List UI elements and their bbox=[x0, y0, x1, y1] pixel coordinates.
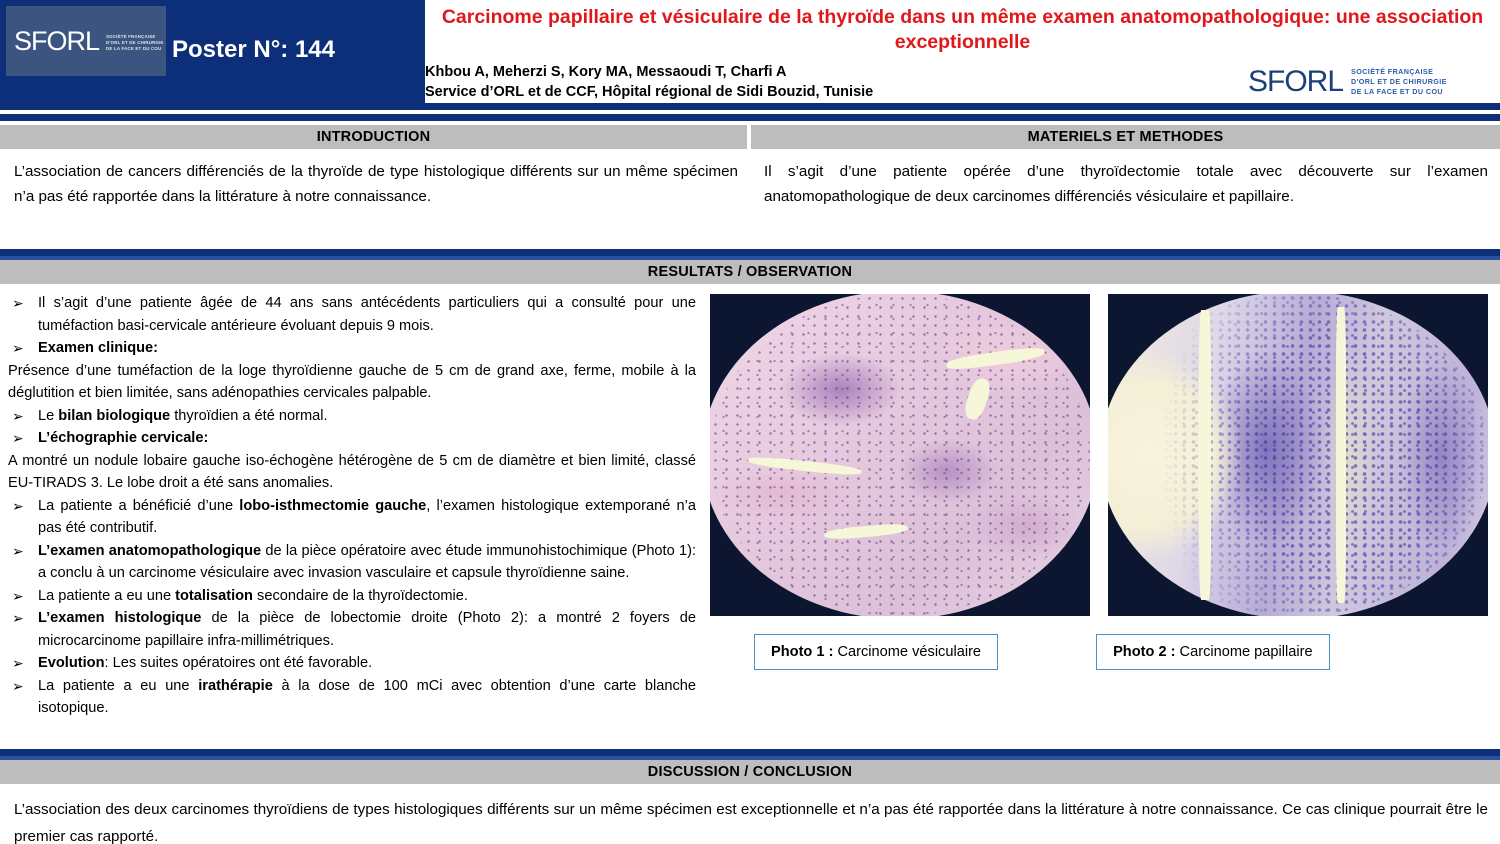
results-bullet-lead: L’échographie cervicale: bbox=[38, 430, 208, 446]
logo-left-sub-line-1: SOCIÉTÉ FRANÇAISE bbox=[106, 34, 156, 39]
section-title-resultats: RESULTATS / OBSERVATION bbox=[648, 264, 852, 280]
results-text-column: Il s’agit d’une patiente âgée de 44 ans … bbox=[0, 284, 706, 749]
column-materiels: Il s’agit d’une patiente opérée d’une th… bbox=[750, 149, 1500, 249]
affiliation-line: Service d’ORL et de CCF, Hôpital régiona… bbox=[425, 82, 873, 102]
results-media-column: Photo 1 : Carcinome vésiculaire Photo 2 … bbox=[706, 284, 1500, 749]
results-bullet-item: Il s’agit d’une patiente âgée de 44 ans … bbox=[8, 292, 696, 337]
results-bullet-emphasis: bilan biologique bbox=[58, 408, 170, 424]
section-header-materiels: MATERIELS ET METHODES bbox=[751, 125, 1500, 149]
photo-1-caption-label: Photo 1 : bbox=[771, 644, 833, 660]
logo-left-sub-line-3: DE LA FACE ET DU COU bbox=[106, 46, 161, 51]
sforl-logo-left-wordmark: SFORL bbox=[14, 26, 99, 57]
photo-caption-row: Photo 1 : Carcinome vésiculaire Photo 2 … bbox=[706, 616, 1500, 670]
results-bullet-lead: L’examen histologique bbox=[38, 610, 201, 626]
section-header-discussion: DISCUSSION / CONCLUSION bbox=[0, 760, 1500, 784]
header-bottom-band bbox=[0, 103, 1500, 110]
poster-root: SFORL SOCIÉTÉ FRANÇAISE D'ORL ET DE CHIR… bbox=[0, 0, 1500, 844]
results-bullet-item: Evolution: Les suites opératoires ont ét… bbox=[8, 652, 696, 675]
poster-header: SFORL SOCIÉTÉ FRANÇAISE D'ORL ET DE CHIR… bbox=[0, 0, 1500, 110]
photo-1-micrograph bbox=[710, 294, 1090, 616]
results-bullet-item: La patiente a eu une irathérapie à la do… bbox=[8, 675, 696, 720]
section-title-introduction: INTRODUCTION bbox=[317, 129, 431, 145]
photo-2-caption-label: Photo 2 : bbox=[1113, 644, 1175, 660]
logo-left-sub-line-2: D'ORL ET DE CHIRURGIE bbox=[106, 40, 164, 45]
poster-number: Poster N°: 144 bbox=[172, 36, 335, 64]
column-introduction: L’association de cancers différenciés de… bbox=[0, 149, 750, 249]
band-navy-discussion bbox=[0, 749, 1500, 756]
section-header-introduction: INTRODUCTION bbox=[0, 125, 747, 149]
results-bullet-item: L’examen histologique de la pièce de lob… bbox=[8, 607, 696, 652]
photo-2-caption-text: Carcinome papillaire bbox=[1176, 644, 1313, 660]
logo-right-sub-line-3: DE LA FACE ET DU COU bbox=[1351, 87, 1443, 96]
discussion-content: L’association des deux carcinomes thyroï… bbox=[0, 784, 1500, 844]
authors-block: Khbou A, Meherzi S, Kory MA, Messaoudi T… bbox=[425, 62, 873, 102]
results-content: Il s’agit d’une patiente âgée de 44 ans … bbox=[0, 284, 1500, 749]
results-bullet-lead: L’examen anatomopathologique bbox=[38, 543, 261, 559]
photo-2-vein-b bbox=[1336, 307, 1346, 603]
section-title-discussion: DISCUSSION / CONCLUSION bbox=[648, 764, 852, 780]
introduction-body: L’association de cancers différenciés de… bbox=[14, 159, 738, 209]
results-bullet-list: Il s’agit d’une patiente âgée de 44 ans … bbox=[8, 292, 696, 720]
results-bullet-item: La patiente a eu une totalisation second… bbox=[8, 585, 696, 608]
photo-1-nuclei-texture bbox=[710, 294, 1090, 616]
photo-2-vein-a bbox=[1199, 310, 1210, 600]
materiels-body: Il s’agit d’une patiente opérée d’une th… bbox=[764, 159, 1488, 209]
results-bullet-lead: Evolution bbox=[38, 655, 104, 671]
top-two-columns: L’association de cancers différenciés de… bbox=[0, 149, 1500, 249]
results-bullet-item: L’examen anatomopathologique de la pièce… bbox=[8, 540, 696, 585]
page-title: Carcinome papillaire et vésiculaire de l… bbox=[425, 0, 1500, 55]
sforl-logo-right: SFORL SOCIÉTÉ FRANÇAISE D'ORL ET DE CHIR… bbox=[1240, 58, 1490, 106]
title-block: Carcinome papillaire et vésiculaire de l… bbox=[425, 0, 1500, 103]
photo-1-caption-text: Carcinome vésiculaire bbox=[833, 644, 981, 660]
results-bullet-lead: Examen clinique: bbox=[38, 340, 158, 356]
photo-2-nuclei-texture bbox=[1108, 294, 1488, 616]
discussion-body: L’association des deux carcinomes thyroï… bbox=[14, 796, 1488, 844]
photo-2-micrograph bbox=[1108, 294, 1488, 616]
photo-1-caption: Photo 1 : Carcinome vésiculaire bbox=[754, 634, 998, 670]
logo-right-sub-line-1: SOCIÉTÉ FRANÇAISE bbox=[1351, 67, 1433, 76]
band-navy-intro bbox=[0, 114, 1500, 121]
section-header-resultats: RESULTATS / OBSERVATION bbox=[0, 260, 1500, 284]
sforl-logo-left: SFORL SOCIÉTÉ FRANÇAISE D'ORL ET DE CHIR… bbox=[6, 6, 166, 76]
section-title-materiels: MATERIELS ET METHODES bbox=[1028, 129, 1224, 145]
sforl-logo-right-wordmark: SFORL bbox=[1240, 65, 1343, 99]
band-navy-results bbox=[0, 249, 1500, 256]
results-bullet-item: La patiente a bénéficié d’une lobo-isthm… bbox=[8, 495, 696, 540]
results-paragraph: Présence d’une tuméfaction de la loge th… bbox=[8, 360, 696, 405]
results-paragraph: A montré un nodule lobaire gauche iso-éc… bbox=[8, 450, 696, 495]
photo-row bbox=[706, 294, 1500, 616]
section-bar-row-top: INTRODUCTION MATERIELS ET METHODES bbox=[0, 125, 1500, 149]
results-bullet-emphasis: totalisation bbox=[175, 588, 253, 604]
results-bullet-item: Le bilan biologique thyroïdien a été nor… bbox=[8, 405, 696, 428]
sforl-logo-right-subtitle: SOCIÉTÉ FRANÇAISE D'ORL ET DE CHIRURGIE … bbox=[1351, 67, 1447, 97]
results-bullet-item: L’échographie cervicale: bbox=[8, 427, 696, 450]
authors-line: Khbou A, Meherzi S, Kory MA, Messaoudi T… bbox=[425, 62, 873, 82]
sforl-logo-left-subtitle: SOCIÉTÉ FRANÇAISE D'ORL ET DE CHIRURGIE … bbox=[106, 31, 164, 52]
logo-right-sub-line-2: D'ORL ET DE CHIRURGIE bbox=[1351, 77, 1447, 86]
photo-2-caption: Photo 2 : Carcinome papillaire bbox=[1096, 634, 1330, 670]
results-bullet-emphasis: lobo-isthmectomie gauche bbox=[239, 498, 426, 514]
results-bullet-emphasis: irathérapie bbox=[198, 678, 273, 694]
results-bullet-item: Examen clinique: bbox=[8, 337, 696, 360]
